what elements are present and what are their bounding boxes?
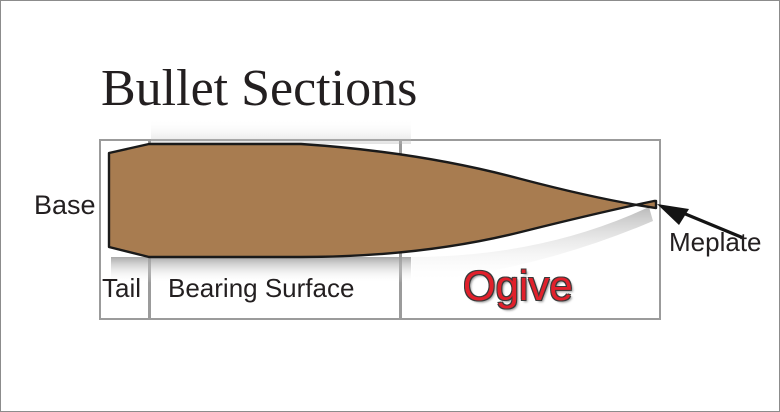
page-title: Bullet Sections bbox=[101, 63, 417, 115]
label-bearing-surface: Bearing Surface bbox=[168, 273, 354, 304]
divider-bearing-ogive bbox=[399, 139, 402, 320]
label-meplate: Meplate bbox=[669, 227, 762, 258]
label-base: Base bbox=[34, 190, 96, 221]
label-tail: Tail bbox=[102, 273, 141, 304]
divider-tail-bearing bbox=[148, 139, 151, 320]
label-ogive: Ogive bbox=[463, 262, 573, 310]
diagram-canvas: Bullet Sections bbox=[0, 0, 780, 412]
